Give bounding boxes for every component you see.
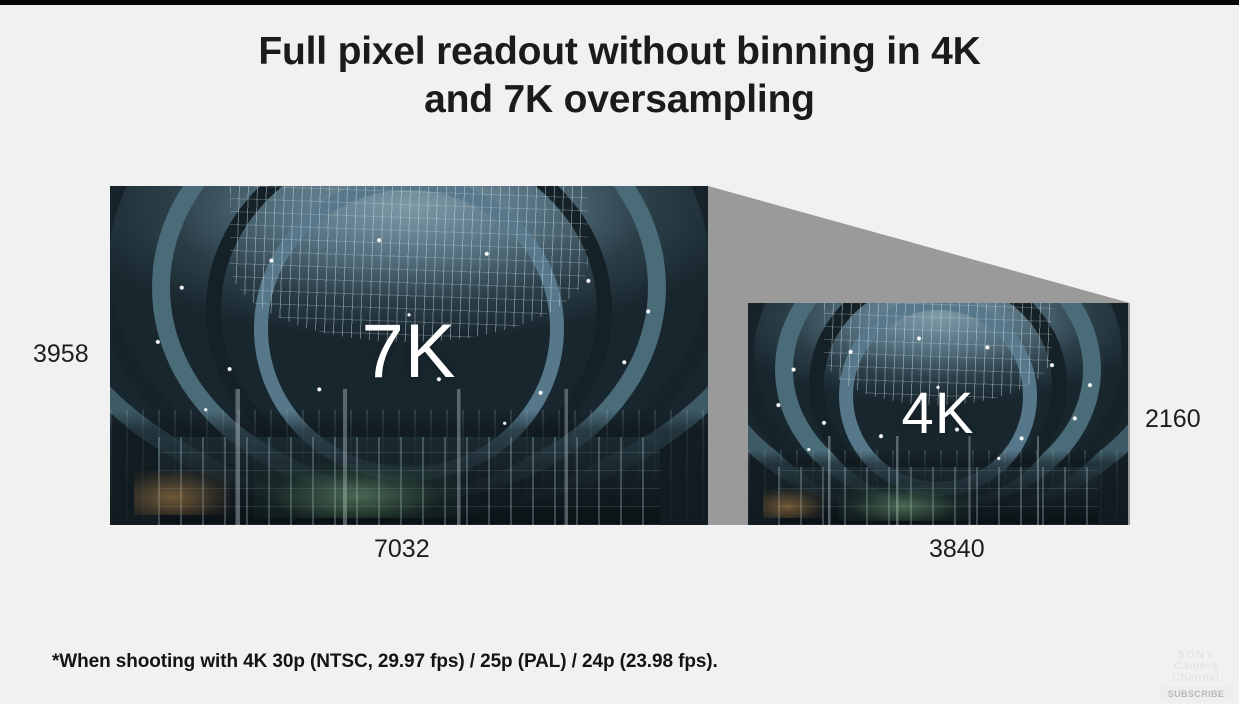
footnote-text: *When shooting with 4K 30p (NTSC, 29.97 …	[52, 651, 718, 673]
channel-watermark: SONY Camera Channel SUBSCRIBE	[1159, 650, 1233, 703]
channel-brand-line-3: Channel	[1159, 673, 1233, 685]
channel-brand: SONY Camera Channel	[1159, 650, 1233, 685]
resolution-overlay-label-7k: 7K	[110, 314, 708, 390]
sensor-readout-image-7k: 7K	[110, 186, 708, 525]
oversampling-diagram: 7K 4K 3958 7032 2160 3840	[0, 0, 1239, 704]
subscribe-button[interactable]: SUBSCRIBE	[1159, 686, 1233, 702]
output-image-4k: 4K	[748, 303, 1128, 525]
dimension-label-4k-width: 3840	[929, 535, 985, 564]
dimension-label-7k-width: 7032	[374, 535, 430, 564]
dimension-label-7k-height: 3958	[33, 340, 89, 369]
resolution-overlay-label-4k: 4K	[748, 385, 1128, 443]
channel-brand-line-2: Camera	[1159, 661, 1233, 673]
letterbox-bar	[0, 0, 1239, 5]
presentation-slide: Full pixel readout without binning in 4K…	[0, 0, 1239, 704]
dimension-label-4k-height: 2160	[1145, 405, 1201, 434]
